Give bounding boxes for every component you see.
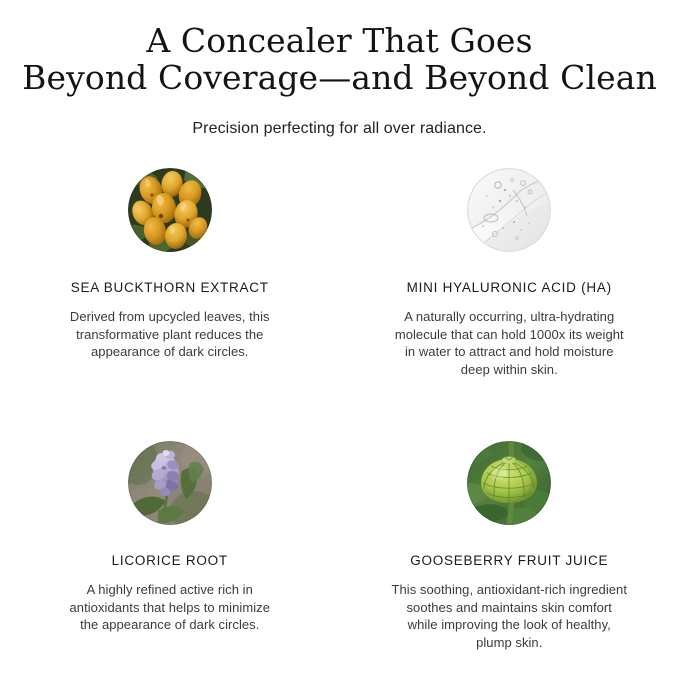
ingredient-description: A highly refined active rich in antioxid… — [70, 581, 270, 634]
page-title: A Concealer That Goes Beyond Coverage—an… — [0, 22, 679, 96]
gooseberry-husk-fruit-photo — [467, 441, 551, 525]
headline-line-1: A Concealer That Goes — [18, 22, 661, 59]
ingredient-description: This soothing, antioxidant-rich ingredie… — [391, 581, 627, 651]
desc-line: deep within skin. — [395, 361, 624, 379]
desc-line: in water to attract and hold moisture — [395, 343, 624, 361]
desc-line: molecule that can hold 1000x its weight — [395, 326, 624, 344]
desc-line: A highly refined active rich in — [70, 581, 270, 599]
ingredient-name: LICORICE ROOT — [112, 553, 228, 569]
ingredient-card-hyaluronic-acid: MINI HYALURONIC ACID (HA) A naturally oc… — [340, 168, 679, 378]
ingredient-grid: SEA BUCKTHORN EXTRACT Derived from upcyc… — [0, 168, 679, 651]
ingredient-description: A naturally occurring, ultra-hydrating m… — [395, 308, 624, 378]
ingredient-card-gooseberry: GOOSEBERRY FRUIT JUICE This soothing, an… — [340, 441, 679, 651]
ingredient-description: Derived from upcycled leaves, this trans… — [70, 308, 270, 361]
ingredient-row: SEA BUCKTHORN EXTRACT Derived from upcyc… — [0, 168, 679, 378]
desc-line: the appearance of dark circles. — [70, 616, 270, 634]
desc-line: Derived from upcycled leaves, this — [70, 308, 270, 326]
desc-line: plump skin. — [391, 634, 627, 652]
desc-line: transformative plant reduces the — [70, 326, 270, 344]
desc-line: antioxidants that helps to minimize — [70, 599, 270, 617]
ingredient-name: GOOSEBERRY FRUIT JUICE — [410, 553, 608, 569]
sea-buckthorn-berries-photo — [128, 168, 212, 252]
ingredient-infographic: A Concealer That Goes Beyond Coverage—an… — [0, 0, 679, 679]
desc-line: A naturally occurring, ultra-hydrating — [395, 308, 624, 326]
desc-line: appearance of dark circles. — [70, 343, 270, 361]
ingredient-name: SEA BUCKTHORN EXTRACT — [71, 280, 269, 296]
ingredient-card-licorice-root: LICORICE ROOT A highly refined active ri… — [0, 441, 340, 651]
headline-line-2: Beyond Coverage—and Beyond Clean — [18, 59, 661, 96]
hyaluronic-acid-gel-texture-photo — [467, 168, 551, 252]
ingredient-row: LICORICE ROOT A highly refined active ri… — [0, 441, 679, 651]
header: A Concealer That Goes Beyond Coverage—an… — [0, 0, 679, 139]
ingredient-name: MINI HYALURONIC ACID (HA) — [407, 280, 612, 296]
desc-line: soothes and maintains skin comfort — [391, 599, 627, 617]
page-subtitle: Precision perfecting for all over radian… — [0, 96, 679, 139]
desc-line: This soothing, antioxidant-rich ingredie… — [391, 581, 627, 599]
desc-line: while improving the look of healthy, — [391, 616, 627, 634]
licorice-root-flower-photo — [128, 441, 212, 525]
ingredient-card-sea-buckthorn: SEA BUCKTHORN EXTRACT Derived from upcyc… — [0, 168, 340, 378]
